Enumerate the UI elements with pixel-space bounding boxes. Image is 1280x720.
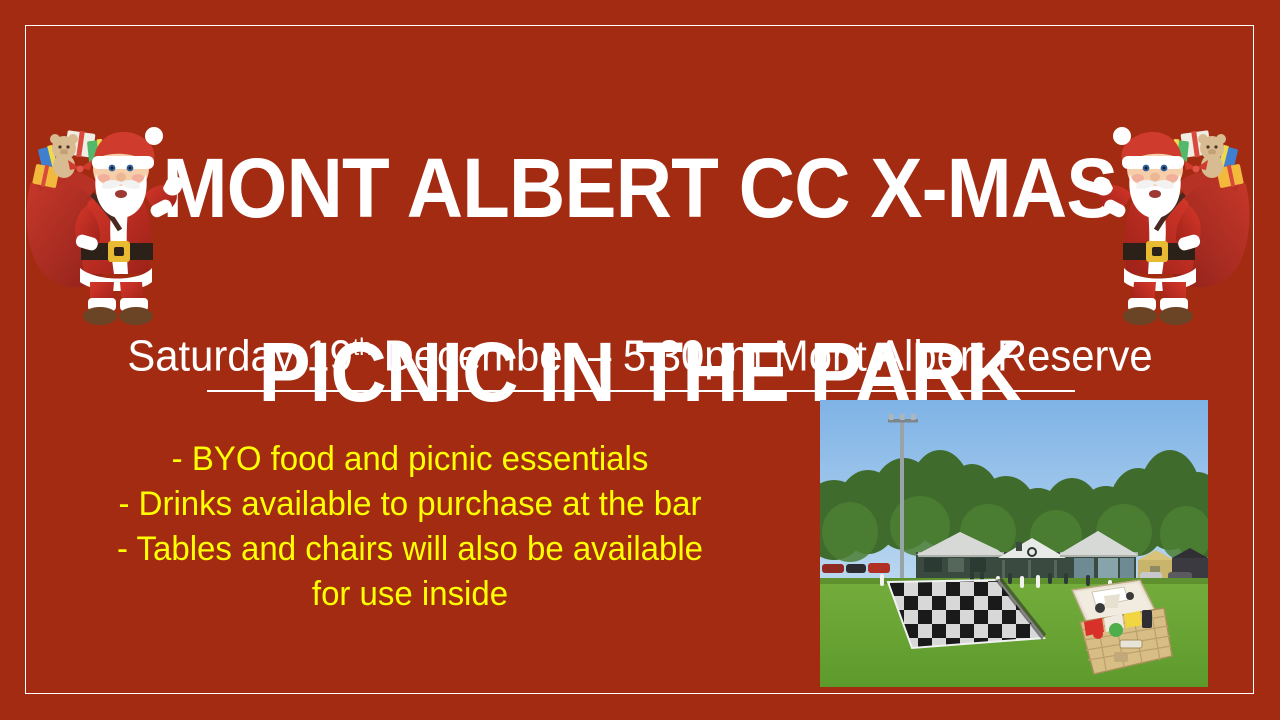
list-item: for use inside — [41, 572, 778, 617]
list-item: - BYO food and picnic essentials — [41, 437, 778, 482]
event-details-subtitle: Saturday 19th December – 5:30pm Mont Alb… — [32, 322, 1248, 383]
santa-claus-icon-right — [1090, 110, 1250, 325]
horizontal-divider — [207, 390, 1075, 392]
venue-photo — [820, 400, 1208, 687]
subtitle-date-suffix: December – 5:30pm Mont Albert Reserve — [372, 332, 1153, 381]
subtitle-date-prefix: Saturday 19 — [127, 332, 352, 381]
list-item: - Tables and chairs will also be availab… — [41, 527, 778, 572]
subtitle-date-ordinal: th — [353, 334, 372, 361]
list-item: - Drinks available to purchase at the ba… — [41, 482, 778, 527]
poster-slide: MONT ALBERT CC X-MAS PICNIC IN THE PARK … — [0, 0, 1280, 720]
santa-claus-icon-left — [26, 110, 186, 325]
bullet-list: - BYO food and picnic essentials - Drink… — [41, 437, 778, 617]
title-line-1: MONT ALBERT CC X-MAS — [45, 142, 1235, 234]
